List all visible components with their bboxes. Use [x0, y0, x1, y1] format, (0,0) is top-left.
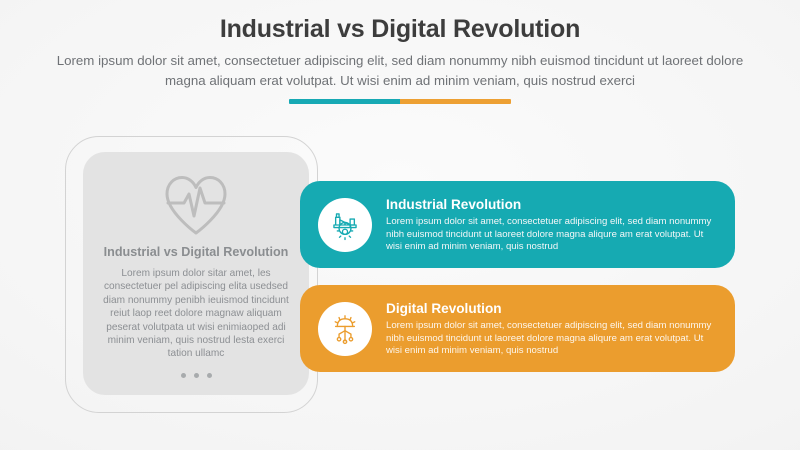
left-card-title: Industrial vs Digital Revolution	[97, 244, 295, 260]
infographic-canvas: Industrial vs Digital Revolution Lorem i…	[0, 0, 800, 450]
factory-gear-icon	[318, 198, 372, 252]
dot-indicator[interactable]	[207, 373, 212, 378]
page-subtitle: Lorem ipsum dolor sit amet, consectetuer…	[55, 51, 745, 91]
panel-body: Digital Revolution Lorem ipsum dolor sit…	[386, 299, 719, 357]
header: Industrial vs Digital Revolution Lorem i…	[0, 14, 800, 104]
panel-title: Digital Revolution	[386, 300, 719, 317]
panel-title: Industrial Revolution	[386, 196, 719, 213]
divider-segment-orange	[400, 99, 511, 104]
circuit-gear-icon	[318, 302, 372, 356]
panel-industrial-revolution[interactable]: Industrial Revolution Lorem ipsum dolor …	[300, 181, 735, 268]
panel-description: Lorem ipsum dolor sit amet, consectetuer…	[386, 320, 719, 357]
page-title: Industrial vs Digital Revolution	[0, 14, 800, 44]
panel-description: Lorem ipsum dolor sit amet, consectetuer…	[386, 216, 719, 253]
pagination-dots[interactable]	[97, 373, 295, 378]
panel-digital-revolution[interactable]: Digital Revolution Lorem ipsum dolor sit…	[300, 285, 735, 372]
dot-indicator[interactable]	[181, 373, 186, 378]
dot-indicator[interactable]	[194, 373, 199, 378]
left-summary-card[interactable]: Industrial vs Digital Revolution Lorem i…	[83, 152, 309, 395]
panel-body: Industrial Revolution Lorem ipsum dolor …	[386, 195, 719, 253]
header-divider	[289, 99, 511, 104]
left-card-description: Lorem ipsum dolor sitar amet, les consec…	[103, 267, 289, 361]
divider-segment-teal	[289, 99, 400, 104]
heart-pulse-icon	[97, 170, 295, 240]
